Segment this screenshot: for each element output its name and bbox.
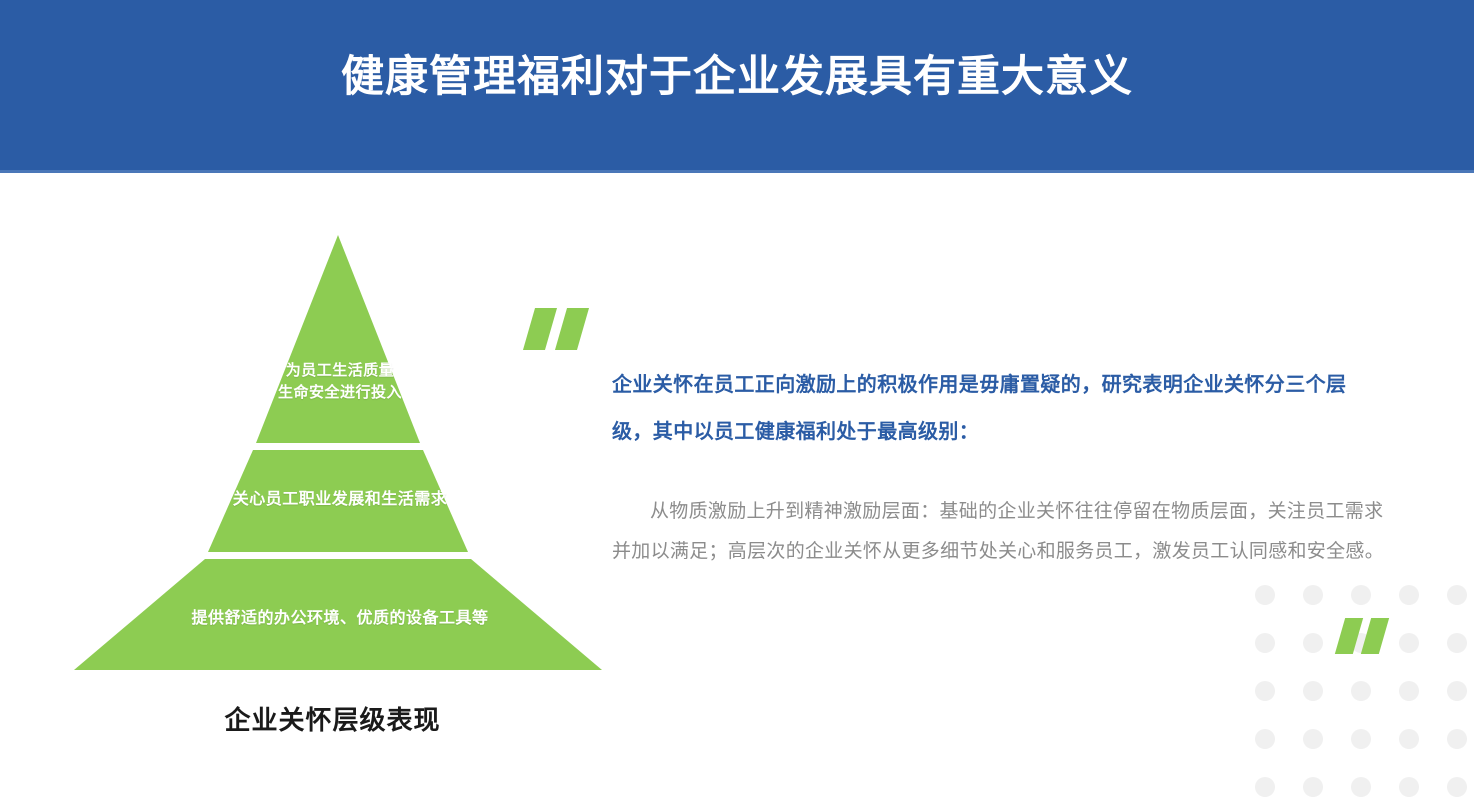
dot-decoration — [1303, 633, 1323, 653]
dot-grid-decoration — [1255, 585, 1474, 780]
content-text-column: 企业关怀在员工正向激励上的积极作用是毋庸置疑的，研究表明企业关怀分三个层级，其中… — [612, 362, 1387, 572]
header-banner-edge — [0, 170, 1474, 173]
dot-decoration — [1255, 585, 1275, 605]
quote-mark-icon — [525, 308, 589, 350]
dot-decoration — [1303, 585, 1323, 605]
dot-decoration — [1399, 585, 1419, 605]
dot-decoration — [1447, 633, 1467, 653]
dot-decoration — [1303, 777, 1323, 797]
dot-decoration — [1255, 681, 1275, 701]
page-title: 健康管理福利对于企业发展具有重大意义 — [0, 48, 1474, 106]
dot-decoration — [1351, 585, 1371, 605]
dot-decoration — [1255, 777, 1275, 797]
dot-decoration — [1351, 729, 1371, 749]
dot-decoration — [1351, 681, 1371, 701]
dot-decoration — [1447, 729, 1467, 749]
dot-decoration — [1255, 729, 1275, 749]
quote-bar-left — [523, 308, 557, 350]
dot-decoration — [1303, 681, 1323, 701]
pyramid-caption: 企业关怀层级表现 — [60, 700, 605, 737]
quote-deco-bar-right — [1361, 618, 1389, 654]
body-paragraph: 从物质激励上升到精神激励层面：基础的企业关怀往往停留在物质层面，关注员工需求并加… — [612, 492, 1387, 572]
quote-deco-bar-left — [1335, 618, 1363, 654]
dot-decoration — [1399, 777, 1419, 797]
dot-decoration — [1255, 633, 1275, 653]
pyramid-tier-base-label: 提供舒适的办公环境、优质的设备工具等 — [60, 607, 620, 630]
pyramid-tier-top-label: 为员工生活质量 生命安全进行投入 — [60, 360, 620, 404]
dot-decoration — [1351, 777, 1371, 797]
dot-decoration — [1447, 777, 1467, 797]
dot-decoration — [1399, 681, 1419, 701]
dot-decoration — [1447, 585, 1467, 605]
quote-bar-right — [555, 308, 589, 350]
pyramid-tier-top-shape[interactable] — [256, 235, 420, 443]
dot-decoration — [1303, 729, 1323, 749]
quote-mark-decoration-icon — [1338, 618, 1390, 654]
lead-paragraph: 企业关怀在员工正向激励上的积极作用是毋庸置疑的，研究表明企业关怀分三个层级，其中… — [612, 362, 1387, 456]
pyramid-diagram: 为员工生活质量 生命安全进行投入 关心员工职业发展和生活需求 提供舒适的办公环境… — [60, 225, 620, 685]
pyramid-tier-middle-label: 关心员工职业发展和生活需求 — [60, 488, 620, 511]
dot-decoration — [1399, 729, 1419, 749]
dot-decoration — [1399, 633, 1419, 653]
dot-decoration — [1447, 681, 1467, 701]
